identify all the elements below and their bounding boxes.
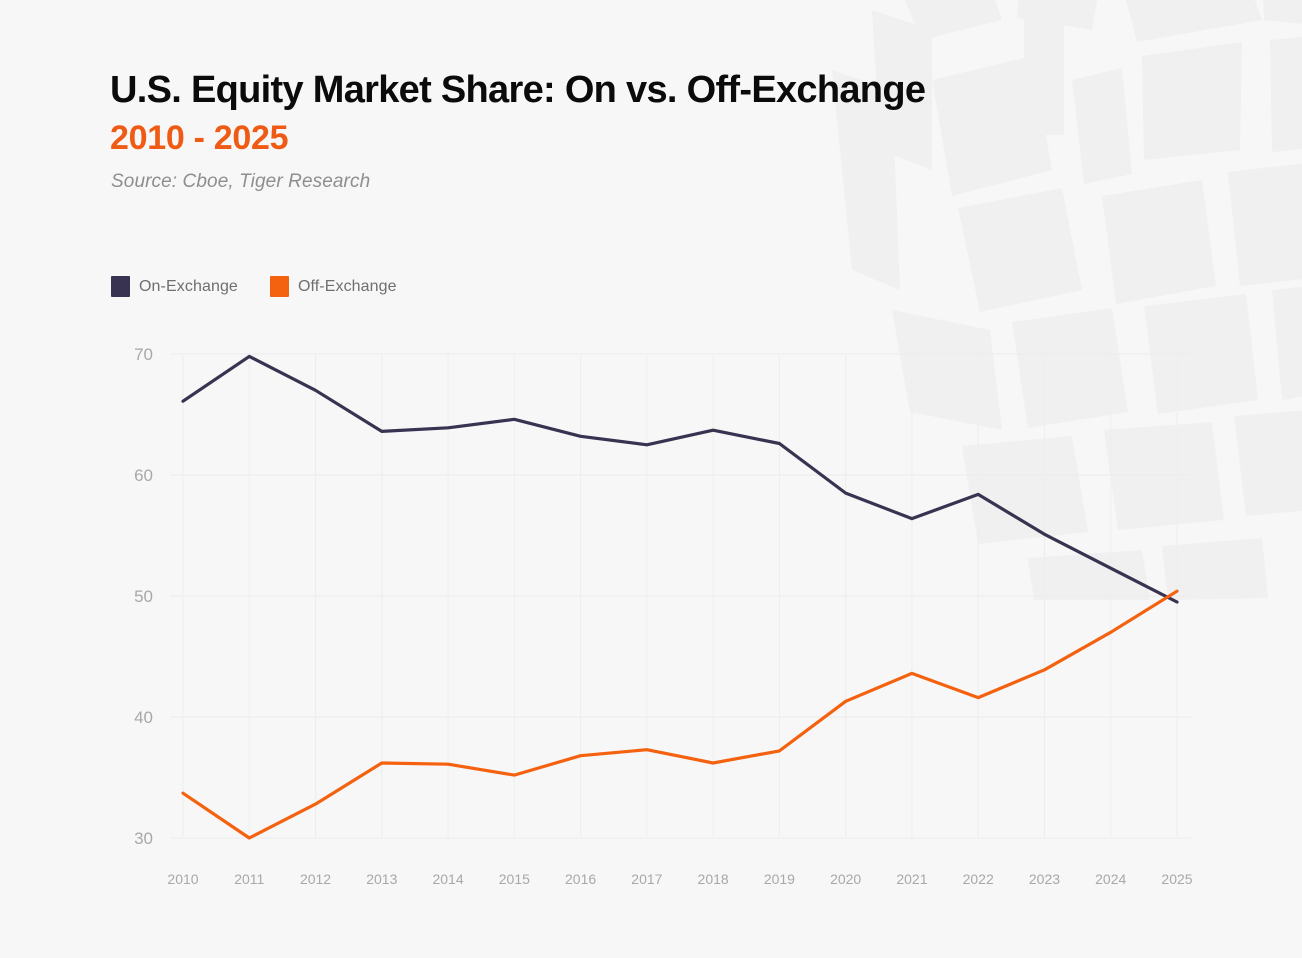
horizontal-gridlines <box>170 354 1191 838</box>
x-tick-2012: 2012 <box>300 871 331 887</box>
series-line-off-exchange[interactable] <box>183 591 1177 838</box>
x-tick-2011: 2011 <box>234 871 264 887</box>
chart-page: U.S. Equity Market Share: On vs. Off-Exc… <box>0 0 1302 958</box>
y-tick-40: 40 <box>134 708 153 727</box>
x-axis-tick-labels: 2010201120122013201420152016201720182019… <box>167 871 1192 887</box>
x-tick-2015: 2015 <box>499 871 530 887</box>
series-line-on-exchange[interactable] <box>183 356 1177 602</box>
x-tick-2013: 2013 <box>366 871 397 887</box>
y-tick-30: 30 <box>134 829 153 848</box>
x-tick-2025: 2025 <box>1161 871 1192 887</box>
y-axis-tick-labels: 3040506070 <box>134 345 153 848</box>
x-tick-2010: 2010 <box>167 871 198 887</box>
x-tick-2018: 2018 <box>698 871 729 887</box>
series-lines <box>183 356 1177 838</box>
x-tick-2014: 2014 <box>432 871 463 887</box>
x-tick-2024: 2024 <box>1095 871 1126 887</box>
x-tick-2019: 2019 <box>764 871 795 887</box>
x-tick-2021: 2021 <box>896 871 927 887</box>
y-tick-60: 60 <box>134 466 153 485</box>
x-tick-2017: 2017 <box>631 871 662 887</box>
x-tick-2016: 2016 <box>565 871 596 887</box>
x-tick-2020: 2020 <box>830 871 861 887</box>
y-tick-70: 70 <box>134 345 153 364</box>
x-tick-2022: 2022 <box>963 871 994 887</box>
y-tick-50: 50 <box>134 587 153 606</box>
x-tick-2023: 2023 <box>1029 871 1060 887</box>
chart-plot-area: 3040506070 20102011201220132014201520162… <box>0 0 1302 958</box>
